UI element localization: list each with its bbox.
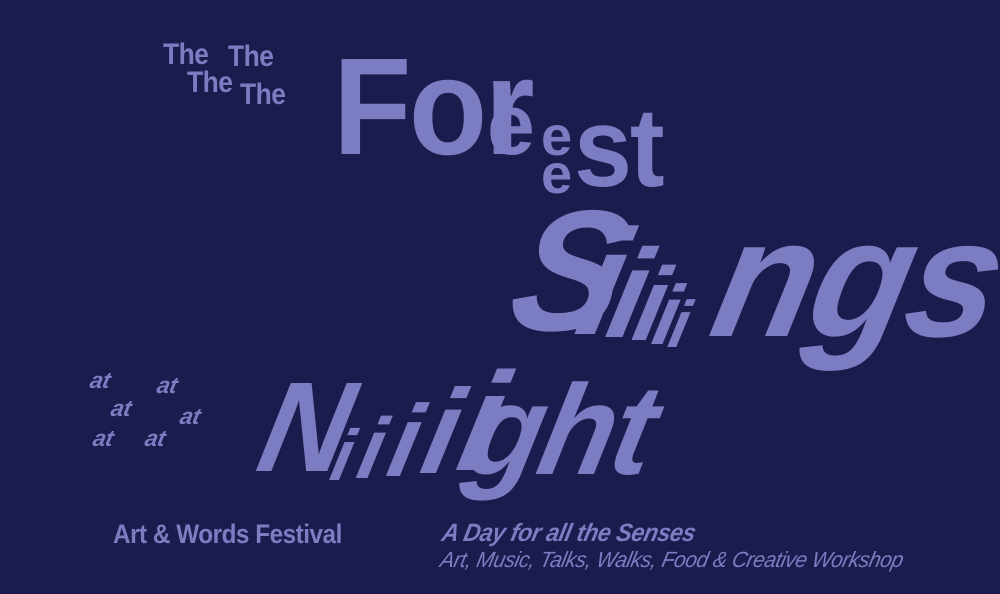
- at-word-2: at: [155, 374, 179, 397]
- the-word-cluster: The The The The: [0, 0, 340, 130]
- festival-name: Art & Words Festival: [113, 521, 342, 548]
- at-word-1: at: [88, 369, 112, 392]
- the-word-2: The: [228, 42, 273, 72]
- at-word-4: at: [178, 405, 202, 428]
- at-word-5: at: [91, 427, 115, 450]
- the-word-3: The: [187, 68, 232, 98]
- at-word-6: at: [143, 427, 167, 450]
- festival-programme: Art, Music, Talks, Walks, Food & Creativ…: [438, 549, 905, 571]
- the-word-4: The: [240, 80, 285, 110]
- night-tail: ght: [457, 367, 666, 495]
- sings-tail: ngs: [701, 194, 1000, 362]
- festival-tagline: A Day for all the Senses: [440, 521, 698, 546]
- poster-canvas: The The The The For e e e st S i i i i i…: [0, 0, 1000, 594]
- forest-stutter-e-1: e: [487, 82, 533, 168]
- at-word-3: at: [109, 397, 133, 420]
